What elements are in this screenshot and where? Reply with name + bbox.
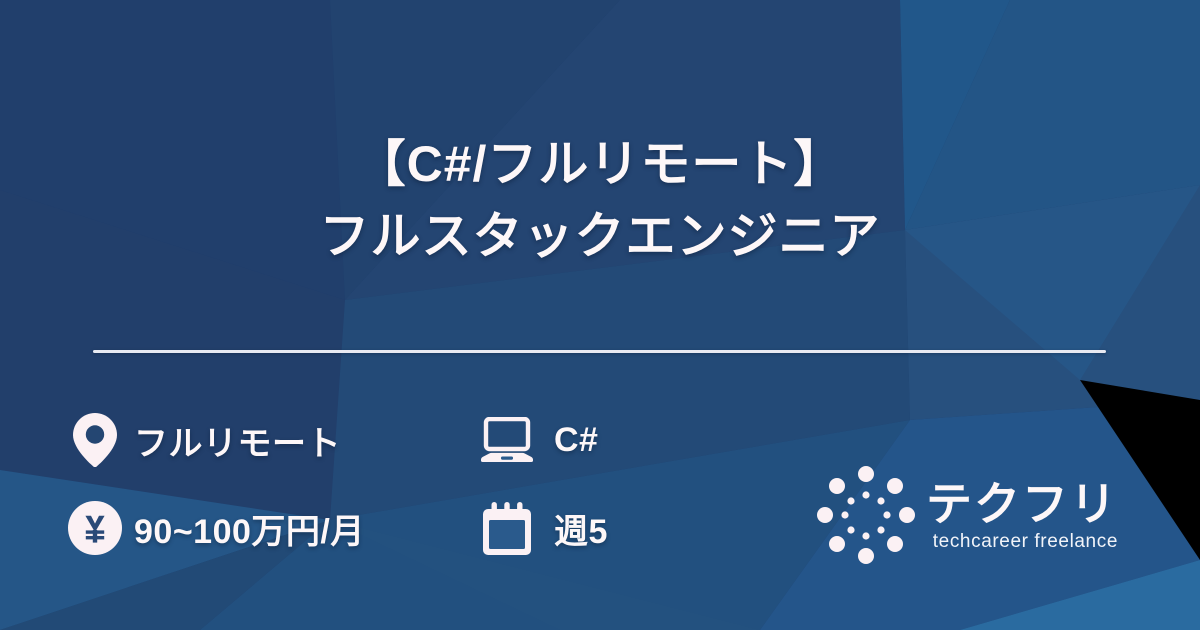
logo-text: テクフリ techcareer freelance [926, 475, 1118, 555]
meta-row: 90~100万円/月 週5 [66, 484, 766, 572]
laptop-icon [478, 411, 536, 469]
brand-logo: テクフリ techcareer freelance [812, 462, 1142, 567]
title-line-2: フルスタックエンジニア [0, 200, 1200, 272]
logo-name: テクフリ [926, 479, 1118, 529]
location-pin-icon [66, 411, 124, 469]
divider [93, 350, 1106, 353]
calendar-icon [478, 499, 536, 557]
meta-item-rate: 90~100万円/月 [66, 499, 478, 557]
logo-tagline: techcareer freelance [926, 529, 1118, 555]
banner-content: 【C#/フルリモート】 フルスタックエンジニア フルリモート [0, 0, 1200, 630]
meta-label-days: 週5 [554, 504, 608, 553]
title-line-1: 【C#/フルリモート】 [0, 128, 1200, 200]
meta-row: フルリモート C# [66, 396, 766, 484]
meta-item-days: 週5 [478, 499, 758, 557]
job-posting-banner: 【C#/フルリモート】 フルスタックエンジニア フルリモート [0, 0, 1200, 630]
meta-label-work-style: フルリモート [134, 416, 341, 465]
yen-circle-icon [66, 499, 124, 557]
job-meta-list: フルリモート C# [66, 396, 766, 572]
dot-cluster-icon [812, 462, 920, 567]
meta-item-work-style: フルリモート [66, 411, 478, 469]
meta-label-skill: C# [554, 421, 598, 460]
meta-item-skill: C# [478, 411, 758, 469]
page-title: 【C#/フルリモート】 フルスタックエンジニア [0, 128, 1200, 272]
meta-label-rate: 90~100万円/月 [134, 504, 365, 553]
